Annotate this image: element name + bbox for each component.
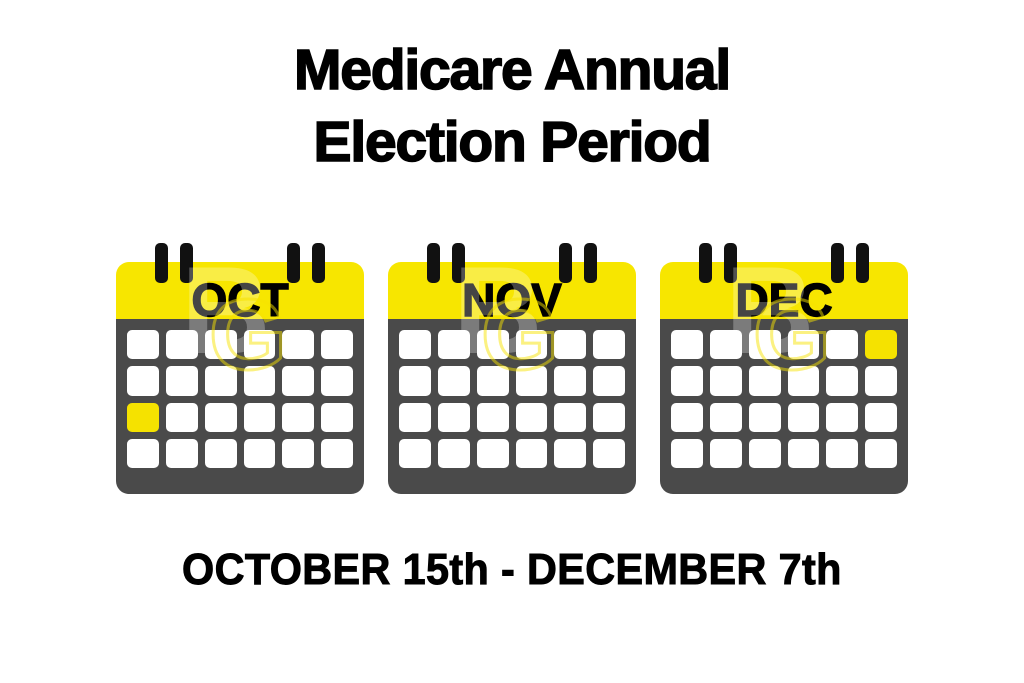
calendar-day-cell	[399, 439, 431, 468]
calendar-day-cell	[671, 403, 703, 432]
calendar-day-cell	[554, 439, 586, 468]
calendar-day-cell	[282, 403, 314, 432]
title-line-1: Medicare Annual	[0, 34, 1024, 106]
calendar-grid-nov	[399, 330, 625, 468]
calendar-day-cell	[516, 366, 548, 395]
calendar-day-cell	[438, 403, 470, 432]
calendar-day-cell	[321, 330, 353, 359]
calendar-day-cell	[477, 403, 509, 432]
calendar-day-cell	[166, 366, 198, 395]
calendar-body-dec	[660, 319, 908, 494]
calendar-day-cell	[127, 330, 159, 359]
calendar-header-nov: NOV	[388, 262, 636, 319]
calendar-header-oct: OCT	[116, 262, 364, 319]
calendar-day-cell	[321, 403, 353, 432]
date-range-text: OCTOBER 15th - DECEMBER 7th	[182, 542, 842, 598]
title-line-2: Election Period	[0, 106, 1024, 178]
calendar-day-cell	[166, 439, 198, 468]
calendar-day-cell	[282, 330, 314, 359]
calendar-day-cell	[593, 366, 625, 395]
calendar-day-cell	[166, 330, 198, 359]
calendar-day-cell	[749, 403, 781, 432]
calendar-day-cell	[749, 330, 781, 359]
calendar-day-cell	[205, 330, 237, 359]
calendar-day-cell	[127, 439, 159, 468]
calendar-day-cell	[554, 403, 586, 432]
calendar-day-cell	[826, 439, 858, 468]
calendar-day-cell	[438, 366, 470, 395]
calendar-day-cell	[477, 330, 509, 359]
calendar-day-cell	[865, 403, 897, 432]
medicare-aep-poster: Medicare Annual Election Period OCT B G	[0, 0, 1024, 683]
calendar-day-cell	[826, 366, 858, 395]
calendar-day-cell	[554, 330, 586, 359]
calendar-header-dec: DEC	[660, 262, 908, 319]
calendar-day-cell	[749, 366, 781, 395]
calendar-day-cell	[788, 366, 820, 395]
calendar-day-cell	[282, 366, 314, 395]
calendar-day-cell	[127, 366, 159, 395]
calendar-body-nov	[388, 319, 636, 494]
calendar-day-cell	[205, 439, 237, 468]
calendar-dec: DEC B G	[660, 243, 908, 503]
calendar-day-cell	[477, 366, 509, 395]
calendar-day-cell	[244, 403, 276, 432]
calendar-day-cell	[671, 439, 703, 468]
calendar-day-cell	[788, 403, 820, 432]
calendar-row: OCT B G NOV B	[0, 243, 1024, 505]
calendar-day-cell	[477, 439, 509, 468]
calendar-day-cell	[593, 403, 625, 432]
calendar-month-label: NOV	[462, 278, 562, 319]
calendar-grid-dec	[671, 330, 897, 468]
calendar-day-cell	[671, 330, 703, 359]
calendar-day-cell	[671, 366, 703, 395]
calendar-day-cell	[282, 439, 314, 468]
calendar-day-cell	[205, 366, 237, 395]
calendar-day-cell	[865, 439, 897, 468]
calendar-day-cell	[321, 439, 353, 468]
date-range-caption: OCTOBER 15th - DECEMBER 7th	[0, 542, 1024, 598]
calendar-oct: OCT B G	[116, 243, 364, 503]
calendar-day-cell	[826, 403, 858, 432]
calendar-day-cell	[516, 439, 548, 468]
calendar-day-cell	[166, 403, 198, 432]
calendar-day-cell	[399, 366, 431, 395]
calendar-day-cell	[865, 366, 897, 395]
calendar-day-cell	[826, 330, 858, 359]
calendar-day-cell	[438, 330, 470, 359]
calendar-month-label: OCT	[191, 278, 288, 319]
calendar-day-cell	[205, 403, 237, 432]
calendar-day-cell	[244, 439, 276, 468]
calendar-month-label: DEC	[735, 278, 832, 319]
calendar-day-cell	[554, 366, 586, 395]
calendar-day-cell	[516, 330, 548, 359]
calendar-day-cell	[788, 330, 820, 359]
calendar-day-cell-highlighted	[127, 403, 159, 432]
calendar-day-cell	[244, 330, 276, 359]
calendar-grid-oct	[127, 330, 353, 468]
calendar-day-cell	[399, 330, 431, 359]
calendar-day-cell	[788, 439, 820, 468]
calendar-day-cell	[710, 330, 742, 359]
calendar-day-cell	[438, 439, 470, 468]
calendar-day-cell	[244, 366, 276, 395]
calendar-day-cell	[710, 403, 742, 432]
calendar-day-cell	[593, 330, 625, 359]
calendar-nov: NOV B G	[388, 243, 636, 503]
calendar-day-cell	[321, 366, 353, 395]
calendar-day-cell	[749, 439, 781, 468]
calendar-day-cell	[710, 439, 742, 468]
calendar-day-cell	[516, 403, 548, 432]
calendar-body-oct	[116, 319, 364, 494]
calendar-day-cell	[399, 403, 431, 432]
calendar-day-cell	[710, 366, 742, 395]
calendar-day-cell-highlighted	[865, 330, 897, 359]
page-title: Medicare Annual Election Period	[0, 34, 1024, 178]
calendar-day-cell	[593, 439, 625, 468]
